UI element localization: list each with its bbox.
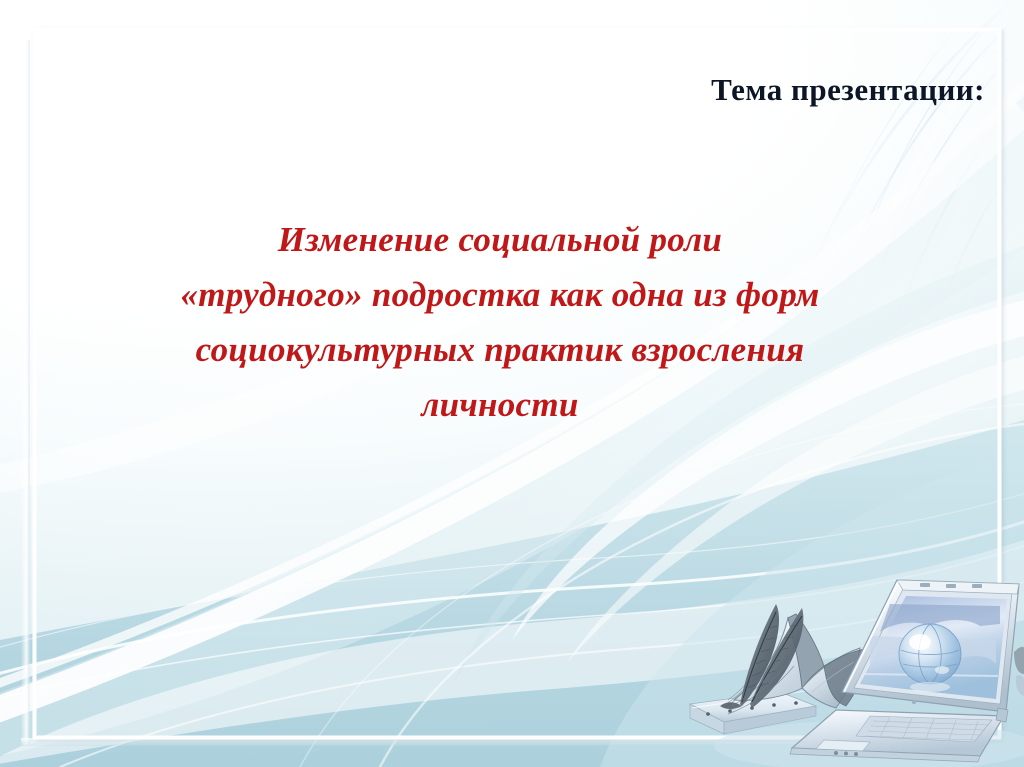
edge-clipped-object (1014, 647, 1024, 696)
frame-drop-shadow-left (21, 40, 30, 745)
laptop-screen-globe (860, 596, 1007, 699)
quill-feather-right (750, 608, 803, 708)
frame-drop-shadow-bottom (21, 738, 983, 746)
slide-header-label: Тема презентации: (0, 72, 985, 108)
laptop-books-quill-illustration (684, 556, 1024, 767)
open-book (724, 614, 870, 708)
book-stack (690, 690, 816, 734)
title-line-1: Изменение социальной роли (62, 212, 938, 267)
title-line-3: социокультурных практик взросления (62, 322, 938, 377)
laptop-open (790, 580, 1019, 762)
slide-title-block: Изменение социальной роли «трудного» под… (62, 212, 938, 432)
title-line-4: личности (62, 377, 938, 432)
title-line-2: «трудного» подростка как одна из форм (62, 267, 938, 322)
presentation-slide: Тема презентации: Изменение социальной р… (0, 0, 1024, 767)
quill-feather-left (720, 604, 779, 709)
